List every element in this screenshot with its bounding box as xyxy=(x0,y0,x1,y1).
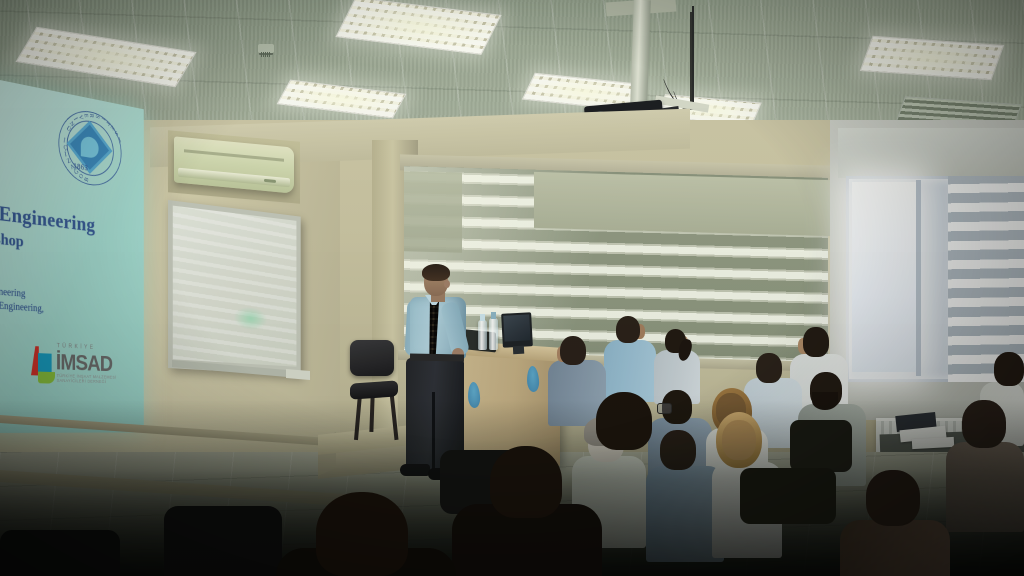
zebra-blinds-upper[interactable] xyxy=(534,172,830,236)
presenter-hair xyxy=(422,264,450,281)
foreground-head xyxy=(490,446,562,518)
audience-head xyxy=(560,336,586,365)
right-zebra-blinds[interactable] xyxy=(948,176,1024,382)
right-blind-headbox xyxy=(838,128,1024,178)
chair-back-rest xyxy=(164,506,282,576)
whiteboard xyxy=(168,200,301,376)
empty-chair xyxy=(350,340,394,376)
window-mullion xyxy=(916,180,921,376)
lecture-hall-photo: BOĞAZİÇİÜNİVERSİTESİ 1863 Fire Engineeri… xyxy=(0,0,1024,576)
presenter-belt xyxy=(410,354,464,362)
imsad-tagline-text: TÜRKİYE İNŞAAT MALZEMESİ SANAYİCİLERİ DE… xyxy=(57,373,118,384)
imsad-logo-icon: TÜRKİYE İMSAD TÜRKİYE İNŞAAT MALZEMESİ S… xyxy=(31,342,118,385)
audience-head xyxy=(756,353,782,383)
projection-screen: BOĞAZİÇİÜNİVERSİTESİ 1863 Fire Engineeri… xyxy=(0,78,144,433)
water-bottle-icon xyxy=(489,318,498,350)
chair-back-rest xyxy=(0,530,120,576)
chair-back-rest xyxy=(790,420,852,472)
presenter-ear xyxy=(444,280,450,288)
audience-head xyxy=(616,316,640,343)
university-logo-ring-text: BOĞAZİÇİÜNİVERSİTESİ xyxy=(58,100,129,195)
water-bottle-icon xyxy=(478,320,487,350)
monitor-icon xyxy=(501,312,533,348)
chair-seat xyxy=(350,380,398,399)
audience-head xyxy=(994,352,1024,386)
foreground-head xyxy=(596,392,652,450)
zebra-blinds-panel[interactable] xyxy=(404,171,462,253)
chair-back-rest xyxy=(740,468,836,524)
right-window-glass xyxy=(852,182,916,372)
foreground-head xyxy=(316,492,408,576)
ceiling-sensor-icon xyxy=(258,44,274,53)
audience-person xyxy=(840,520,950,576)
audience-head xyxy=(866,470,920,526)
university-logo-icon: BOĞAZİÇİÜNİVERSİTESİ xyxy=(58,105,121,189)
audience-head xyxy=(803,327,829,357)
